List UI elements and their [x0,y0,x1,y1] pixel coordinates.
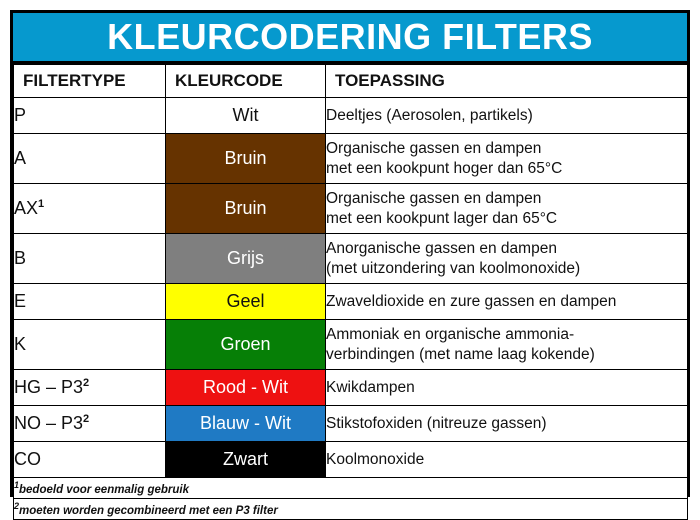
column-header-filtertype: FILTERTYPE [14,65,166,98]
color-code-label: Rood - Wit [203,377,288,397]
application-cell: Stikstofoxiden (nitreuze gassen) [326,406,688,442]
poster-title-bar: KLEURCODERING FILTERS [13,13,687,64]
application-line: Anorganische gassen en dampen [326,239,687,259]
application-line: Zwaveldioxide en zure gassen en dampen [326,292,687,312]
footnote-row: 1bedoeld voor eenmalig gebruik [14,478,688,499]
filter-type-footnote-marker: 1 [38,198,44,210]
filter-type-cell: NO – P32 [14,406,166,442]
filter-type-cell: E [14,284,166,320]
application-cell: Anorganische gassen en dampen(met uitzon… [326,234,688,284]
table-row: COZwartKoolmonoxide [14,442,688,478]
filter-type-cell: P [14,98,166,134]
application-cell: Koolmonoxide [326,442,688,478]
filter-type-cell: K [14,320,166,370]
filter-type-label: B [14,248,26,268]
filter-type-cell: CO [14,442,166,478]
filter-type-footnote-marker: 2 [83,377,89,389]
table-row: EGeelZwaveldioxide en zure gassen en dam… [14,284,688,320]
color-code-label: Grijs [227,248,264,268]
footnote-row: 2moeten worden gecombineerd met een P3 f… [14,499,688,520]
color-code-label: Wit [233,105,259,125]
filter-type-footnote-marker: 2 [83,413,89,425]
table-header-row: FILTERTYPE KLEURCODE TOEPASSING [14,65,688,98]
filter-type-label: A [14,148,26,168]
color-code-swatch-cell: Zwart [166,442,326,478]
footnote-cell: 1bedoeld voor eenmalig gebruik [14,478,688,499]
footnote-cell: 2moeten worden gecombineerd met een P3 f… [14,499,688,520]
table-row: PWitDeeltjes (Aerosolen, partikels) [14,98,688,134]
application-line: Koolmonoxide [326,450,687,470]
application-line: Organische gassen en dampen [326,189,687,209]
application-cell: Zwaveldioxide en zure gassen en dampen [326,284,688,320]
filter-type-cell: B [14,234,166,284]
filter-type-label: NO – P3 [14,413,83,433]
application-line: Kwikdampen [326,378,687,398]
color-code-swatch-cell: Geel [166,284,326,320]
application-line: met een kookpunt hoger dan 65°C [326,159,687,179]
application-line: (met uitzondering van koolmonoxide) [326,259,687,279]
application-cell: Kwikdampen [326,370,688,406]
application-line: met een kookpunt lager dan 65°C [326,209,687,229]
filter-color-code-table: FILTERTYPE KLEURCODE TOEPASSING PWitDeel… [13,64,688,520]
filter-type-label: AX [14,198,38,218]
application-line: verbindingen (met name laag kokende) [326,345,687,365]
application-line: Stikstofoxiden (nitreuze gassen) [326,414,687,434]
color-code-label: Geel [226,291,264,311]
filter-type-cell: AX1 [14,184,166,234]
table-row: AX1BruinOrganische gassen en dampenmet e… [14,184,688,234]
application-line: Deeltjes (Aerosolen, partikels) [326,106,687,126]
application-cell: Ammoniak en organische ammonia-verbindin… [326,320,688,370]
filter-type-label: HG – P3 [14,377,83,397]
application-cell: Organische gassen en dampenmet een kookp… [326,184,688,234]
table-row: KGroenAmmoniak en organische ammonia-ver… [14,320,688,370]
filter-type-label: P [14,105,26,125]
column-header-toepassing: TOEPASSING [326,65,688,98]
table-row: ABruinOrganische gassen en dampenmet een… [14,134,688,184]
filter-type-label: E [14,291,26,311]
table-row: HG – P32Rood - WitKwikdampen [14,370,688,406]
color-code-label: Groen [220,334,270,354]
application-cell: Deeltjes (Aerosolen, partikels) [326,98,688,134]
color-code-swatch-cell: Blauw - Wit [166,406,326,442]
filter-type-label: CO [14,449,41,469]
color-code-label: Bruin [224,198,266,218]
application-line: Organische gassen en dampen [326,139,687,159]
application-cell: Organische gassen en dampenmet een kookp… [326,134,688,184]
table-row: NO – P32Blauw - WitStikstofoxiden (nitre… [14,406,688,442]
footnote-text: bedoeld voor eenmalig gebruik [19,484,189,496]
footnote-text: moeten worden gecombineerd met een P3 fi… [19,505,278,517]
color-code-swatch-cell: Groen [166,320,326,370]
color-code-label: Zwart [223,449,268,469]
color-code-swatch-cell: Rood - Wit [166,370,326,406]
color-code-swatch-cell: Wit [166,98,326,134]
page-title: KLEURCODERING FILTERS [107,19,593,55]
color-code-swatch-cell: Bruin [166,184,326,234]
color-code-label: Blauw - Wit [200,413,291,433]
color-code-swatch-cell: Bruin [166,134,326,184]
application-line: Ammoniak en organische ammonia- [326,325,687,345]
color-code-swatch-cell: Grijs [166,234,326,284]
table-body: PWitDeeltjes (Aerosolen, partikels)ABrui… [14,98,688,520]
color-code-label: Bruin [224,148,266,168]
color-coding-poster: KLEURCODERING FILTERS FILTERTYPE KLEURCO… [10,10,690,497]
filter-type-cell: A [14,134,166,184]
table-row: BGrijsAnorganische gassen en dampen(met … [14,234,688,284]
column-header-kleurcode: KLEURCODE [166,65,326,98]
filter-type-label: K [14,334,26,354]
filter-type-cell: HG – P32 [14,370,166,406]
